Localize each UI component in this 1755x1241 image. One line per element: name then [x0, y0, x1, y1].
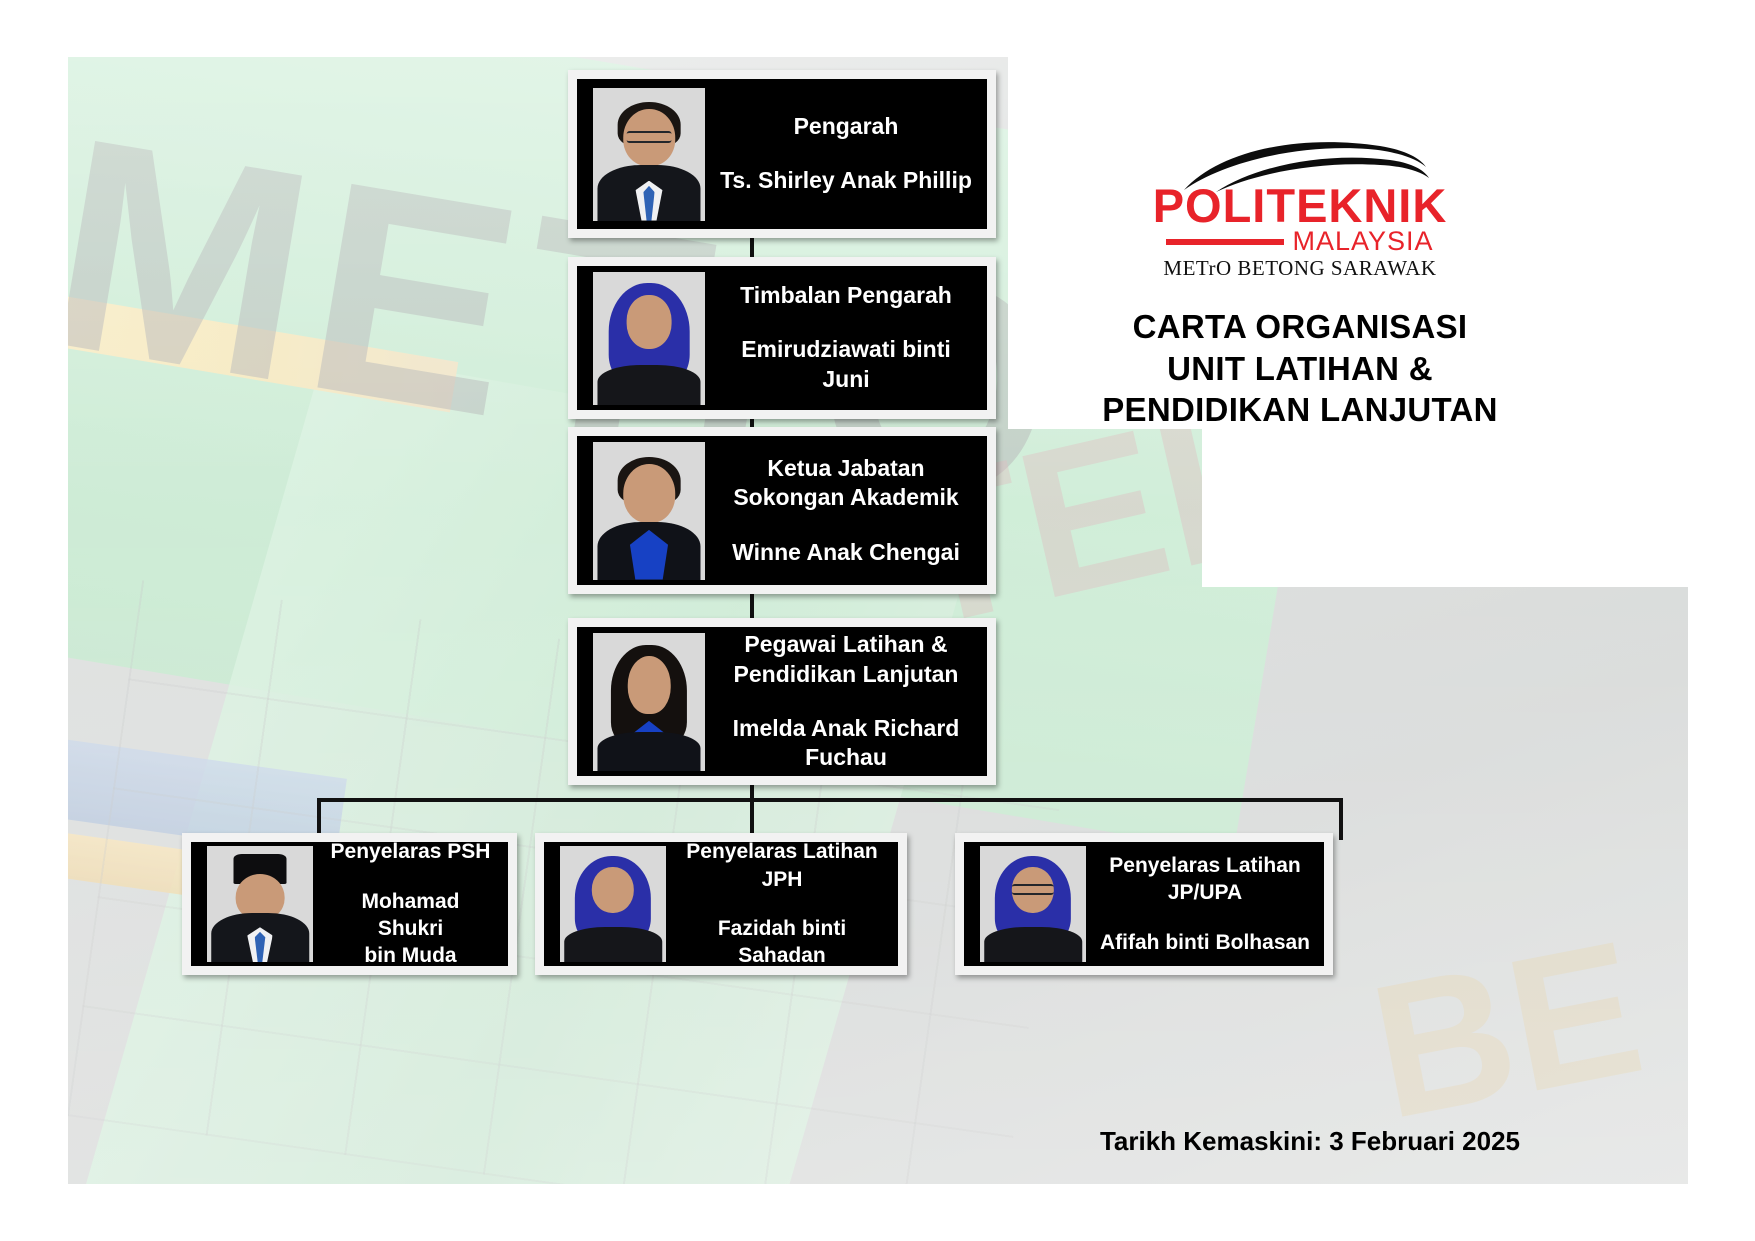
avatar-pegawai-latihan [593, 633, 705, 771]
avatar-ketua-jabatan [593, 442, 705, 580]
org-node-timbalan-text: Timbalan Pengarah Emirudziawati binti Ju… [705, 275, 987, 401]
org-node-pengarah[interactable]: Pengarah Ts. Shirley Anak Phillip [568, 70, 996, 238]
org-node-ketua-role-line1: Ketua Jabatan [719, 454, 973, 484]
page-title-line-2: UNIT LATIHAN & [1065, 348, 1535, 390]
org-node-psh-role: Penyelaras PSH [327, 838, 494, 865]
org-node-pegawai-role-line2: Pendidikan Lanjutan [719, 660, 973, 690]
org-node-pegawai-person: Imelda Anak Richard Fuchau [719, 714, 973, 774]
org-node-pengarah-person: Ts. Shirley Anak Phillip [719, 166, 973, 196]
connector-horizontal-bus [317, 798, 1343, 802]
org-node-jpupa-role-line1: Penyelaras Latihan [1100, 852, 1310, 879]
org-node-jph-text: Penyelaras Latihan JPH Fazidah binti Sah… [666, 832, 898, 975]
org-node-ketua-role-line2: Sokongan Akademik [719, 483, 973, 513]
logo-red-bar-icon [1166, 239, 1284, 245]
logo-campus-name: METrO BETONG SARAWAK [1065, 256, 1535, 281]
org-node-pegawai-text: Pegawai Latihan & Pendidikan Lanjutan Im… [705, 624, 987, 780]
logo-wordmark: POLITEKNIK [1065, 182, 1535, 229]
org-node-psh-person-line1: Mohamad Shukri [327, 888, 494, 943]
avatar-penyelaras-jph [560, 846, 666, 962]
page-title-line-1: CARTA ORGANISASI [1065, 306, 1535, 348]
logo-subline: MALAYSIA [1065, 228, 1535, 255]
logo-country: MALAYSIA [1292, 228, 1433, 255]
org-node-ketua-text: Ketua Jabatan Sokongan Akademik Winne An… [705, 448, 987, 574]
org-node-penyelaras-psh[interactable]: Penyelaras PSH Mohamad Shukri bin Muda [182, 833, 517, 975]
org-node-penyelaras-latihan-jph[interactable]: Penyelaras Latihan JPH Fazidah binti Sah… [535, 833, 907, 975]
org-node-jpupa-person: Afifah binti Bolhasan [1100, 929, 1310, 956]
org-node-jpupa-role-line2: JP/UPA [1100, 879, 1310, 906]
org-node-jph-person: Fazidah binti Sahadan [680, 915, 884, 970]
connector-ketua-pegawai [750, 594, 754, 620]
avatar-timbalan-pengarah [593, 272, 705, 405]
org-node-ketua-person: Winne Anak Chengai [719, 538, 973, 568]
page-title-line-3: PENDIDIKAN LANJUTAN [1065, 389, 1535, 431]
org-node-timbalan-person: Emirudziawati binti Juni [719, 335, 973, 395]
page-title: CARTA ORGANISASI UNIT LATIHAN & PENDIDIK… [1065, 306, 1535, 431]
org-node-penyelaras-latihan-jp-upa[interactable]: Penyelaras Latihan JP/UPA Afifah binti B… [955, 833, 1333, 975]
update-date-label: Tarikh Kemaskini: 3 Februari 2025 [1090, 1126, 1520, 1157]
avatar-penyelaras-psh [207, 846, 313, 962]
org-node-pengarah-text: Pengarah Ts. Shirley Anak Phillip [705, 106, 987, 202]
org-node-timbalan-role: Timbalan Pengarah [719, 281, 973, 311]
org-node-pegawai-latihan[interactable]: Pegawai Latihan & Pendidikan Lanjutan Im… [568, 618, 996, 785]
org-node-pengarah-role: Pengarah [719, 112, 973, 142]
org-node-jph-role: Penyelaras Latihan JPH [680, 838, 884, 893]
org-node-pegawai-role-line1: Pegawai Latihan & [719, 630, 973, 660]
politeknik-logo: POLITEKNIK MALAYSIA METrO BETONG SARAWAK [1065, 140, 1535, 260]
org-node-jpupa-text: Penyelaras Latihan JP/UPA Afifah binti B… [1086, 846, 1324, 962]
header-block: POLITEKNIK MALAYSIA METrO BETONG SARAWAK… [1065, 140, 1535, 431]
org-node-ketua-jabatan[interactable]: Ketua Jabatan Sokongan Akademik Winne An… [568, 427, 996, 594]
avatar-penyelaras-jp-upa [980, 846, 1086, 962]
org-node-timbalan-pengarah[interactable]: Timbalan Pengarah Emirudziawati binti Ju… [568, 257, 996, 419]
org-node-psh-text: Penyelaras PSH Mohamad Shukri bin Muda [313, 832, 508, 975]
org-node-psh-person-line2: bin Muda [327, 942, 494, 969]
avatar-pengarah [593, 88, 705, 221]
connector-bus-jpupa [1339, 798, 1343, 840]
